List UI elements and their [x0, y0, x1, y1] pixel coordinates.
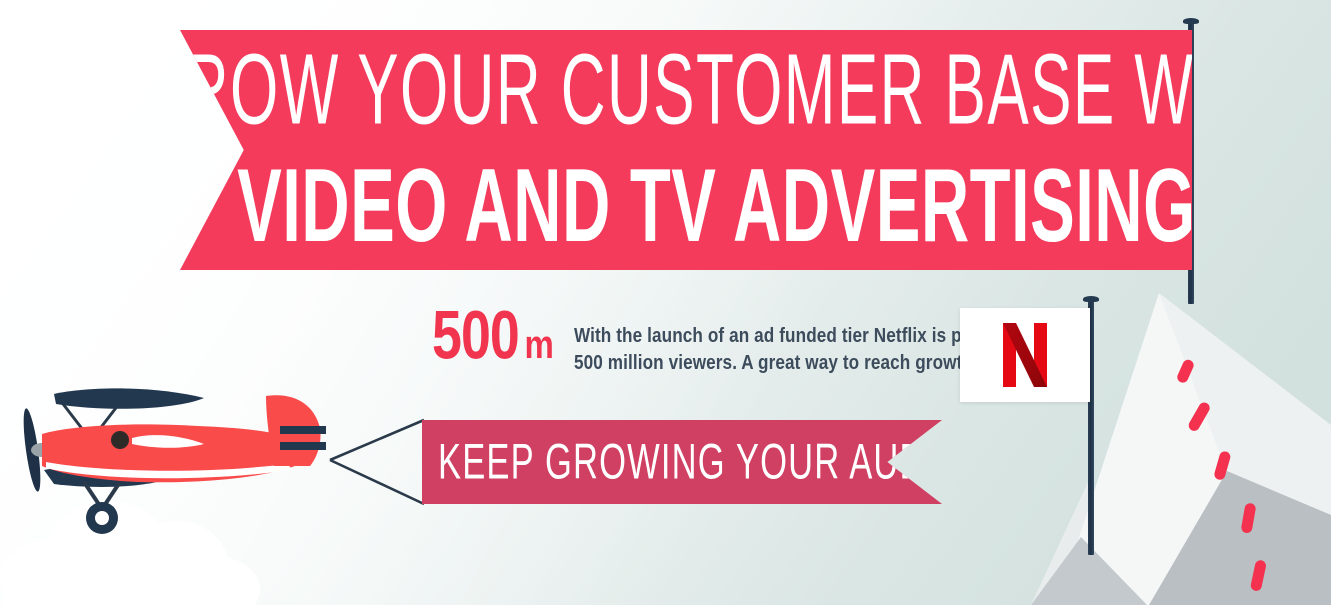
pilot-head	[111, 431, 129, 449]
infographic-canvas: GROW YOUR CUSTOMER BASE WITH VIDEO AND T…	[0, 0, 1331, 605]
title-banner: GROW YOUR CUSTOMER BASE WITH VIDEO AND T…	[180, 30, 1192, 270]
cta-banner-label: KEEP GROWING YOUR AUDIENCE	[438, 433, 1037, 491]
stat-number: 500	[432, 306, 519, 363]
page-title-main: VIDEO AND TV ADVERTISING	[237, 159, 1196, 256]
tail-stripe-1	[280, 426, 326, 434]
upper-wing	[54, 388, 204, 408]
stat-block: 500 m With the launch of an ad funded ti…	[432, 306, 1044, 368]
cta-banner[interactable]: KEEP GROWING YOUR AUDIENCE	[422, 420, 942, 504]
tail-stripe-2	[280, 442, 326, 450]
netflix-flag: N	[960, 308, 1090, 402]
flagpole-cap-icon	[1083, 296, 1099, 302]
netflix-logo-icon	[1003, 323, 1047, 387]
landing-gear	[84, 482, 120, 534]
stat-unit: m	[524, 324, 553, 364]
biplane-illustration	[8, 378, 348, 543]
page-title-subline: GROW YOUR CUSTOMER BASE WITH	[134, 42, 1298, 138]
flagpole-cap-icon	[1183, 18, 1199, 24]
